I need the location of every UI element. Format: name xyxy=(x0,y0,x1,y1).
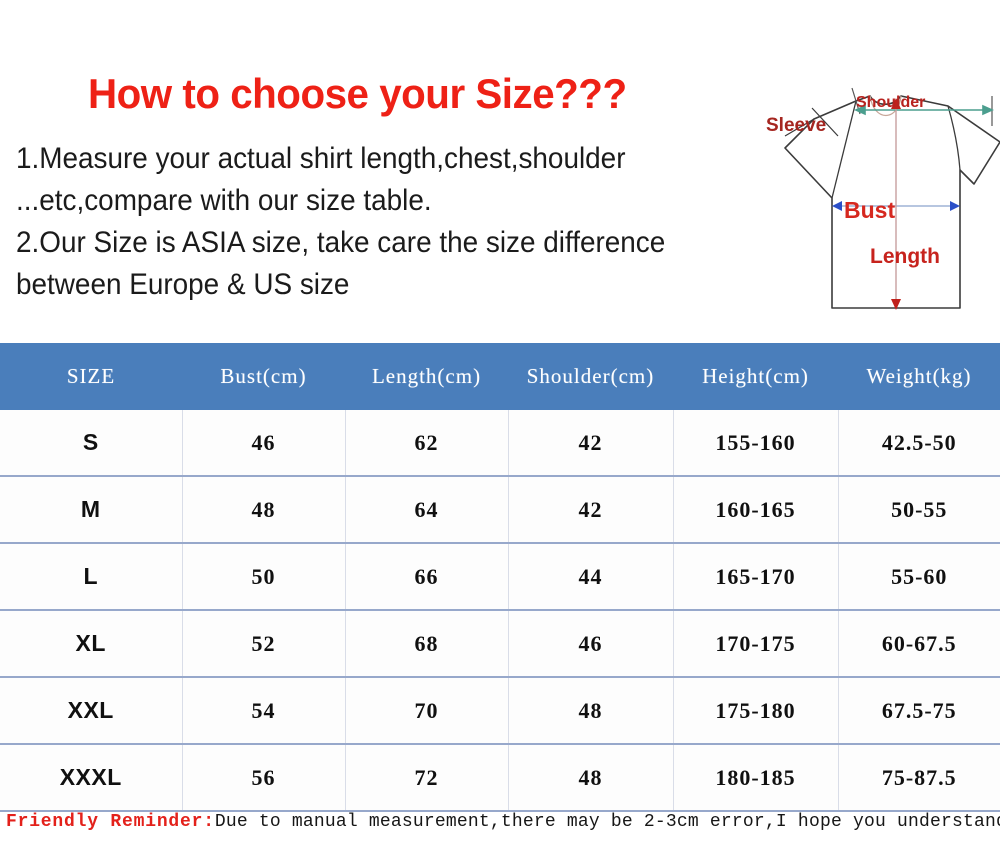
cell-weight: 67.5-75 xyxy=(838,677,1000,744)
column-header-bust: Bust(cm) xyxy=(182,343,345,410)
cell-size: XXXL xyxy=(0,744,182,811)
diagram-label-sleeve: Sleeve xyxy=(766,115,826,137)
table-header-row: SIZE Bust(cm) Length(cm) Shoulder(cm) He… xyxy=(0,343,1000,410)
column-header-weight: Weight(kg) xyxy=(838,343,1000,410)
table-body: S 46 62 42 155-160 42.5-50 M 48 64 42 16… xyxy=(0,410,1000,811)
column-header-height: Height(cm) xyxy=(673,343,838,410)
cell-height: 175-180 xyxy=(673,677,838,744)
cell-weight: 75-87.5 xyxy=(838,744,1000,811)
cell-size: XL xyxy=(0,610,182,677)
cell-size: S xyxy=(0,410,182,476)
cell-height: 160-165 xyxy=(673,476,838,543)
cell-length: 62 xyxy=(345,410,508,476)
cell-bust: 56 xyxy=(182,744,345,811)
cell-height: 165-170 xyxy=(673,543,838,610)
cell-shoulder: 42 xyxy=(508,410,673,476)
column-header-length: Length(cm) xyxy=(345,343,508,410)
cell-size: M xyxy=(0,476,182,543)
cell-length: 70 xyxy=(345,677,508,744)
cell-shoulder: 48 xyxy=(508,744,673,811)
table-row: M 48 64 42 160-165 50-55 xyxy=(0,476,1000,543)
size-chart-table: SIZE Bust(cm) Length(cm) Shoulder(cm) He… xyxy=(0,343,1000,812)
cell-length: 64 xyxy=(345,476,508,543)
info-panel: How to choose your Size??? 1.Measure you… xyxy=(0,0,1000,343)
instruction-line-1: 1.Measure your actual shirt length,chest… xyxy=(16,138,723,180)
t-shirt-measurement-diagram: Shoulder Sleeve Bust Length xyxy=(752,84,1000,332)
cell-weight: 50-55 xyxy=(838,476,1000,543)
cell-length: 66 xyxy=(345,543,508,610)
page-title: How to choose your Size??? xyxy=(88,70,627,118)
instruction-line-4: between Europe & US size xyxy=(16,264,723,306)
table-row: XXXL 56 72 48 180-185 75-87.5 xyxy=(0,744,1000,811)
column-header-size: SIZE xyxy=(0,343,182,410)
cell-height: 170-175 xyxy=(673,610,838,677)
cell-bust: 52 xyxy=(182,610,345,677)
table-row: S 46 62 42 155-160 42.5-50 xyxy=(0,410,1000,476)
cell-shoulder: 44 xyxy=(508,543,673,610)
cell-bust: 54 xyxy=(182,677,345,744)
table-header: SIZE Bust(cm) Length(cm) Shoulder(cm) He… xyxy=(0,343,1000,410)
cell-size: XXL xyxy=(0,677,182,744)
cell-height: 180-185 xyxy=(673,744,838,811)
cell-length: 72 xyxy=(345,744,508,811)
reminder-label: Friendly Reminder: xyxy=(6,812,215,832)
friendly-reminder: Friendly Reminder:Due to manual measurem… xyxy=(6,812,1000,832)
diagram-label-length: Length xyxy=(870,245,940,269)
table-row: L 50 66 44 165-170 55-60 xyxy=(0,543,1000,610)
cell-bust: 50 xyxy=(182,543,345,610)
cell-length: 68 xyxy=(345,610,508,677)
cell-shoulder: 42 xyxy=(508,476,673,543)
diagram-label-shoulder: Shoulder xyxy=(856,94,925,112)
cell-weight: 60-67.5 xyxy=(838,610,1000,677)
cell-shoulder: 46 xyxy=(508,610,673,677)
cell-shoulder: 48 xyxy=(508,677,673,744)
cell-height: 155-160 xyxy=(673,410,838,476)
instruction-line-3: 2.Our Size is ASIA size, take care the s… xyxy=(16,222,723,264)
cell-size: L xyxy=(0,543,182,610)
cell-weight: 55-60 xyxy=(838,543,1000,610)
reminder-text: Due to manual measurement,there may be 2… xyxy=(215,812,1000,832)
cell-weight: 42.5-50 xyxy=(838,410,1000,476)
table-row: XL 52 68 46 170-175 60-67.5 xyxy=(0,610,1000,677)
cell-bust: 46 xyxy=(182,410,345,476)
instructions-list: 1.Measure your actual shirt length,chest… xyxy=(16,138,776,306)
table-row: XXL 54 70 48 175-180 67.5-75 xyxy=(0,677,1000,744)
column-header-shoulder: Shoulder(cm) xyxy=(508,343,673,410)
instruction-line-2: ...etc,compare with our size table. xyxy=(16,180,723,222)
cell-bust: 48 xyxy=(182,476,345,543)
diagram-label-bust: Bust xyxy=(844,197,895,224)
